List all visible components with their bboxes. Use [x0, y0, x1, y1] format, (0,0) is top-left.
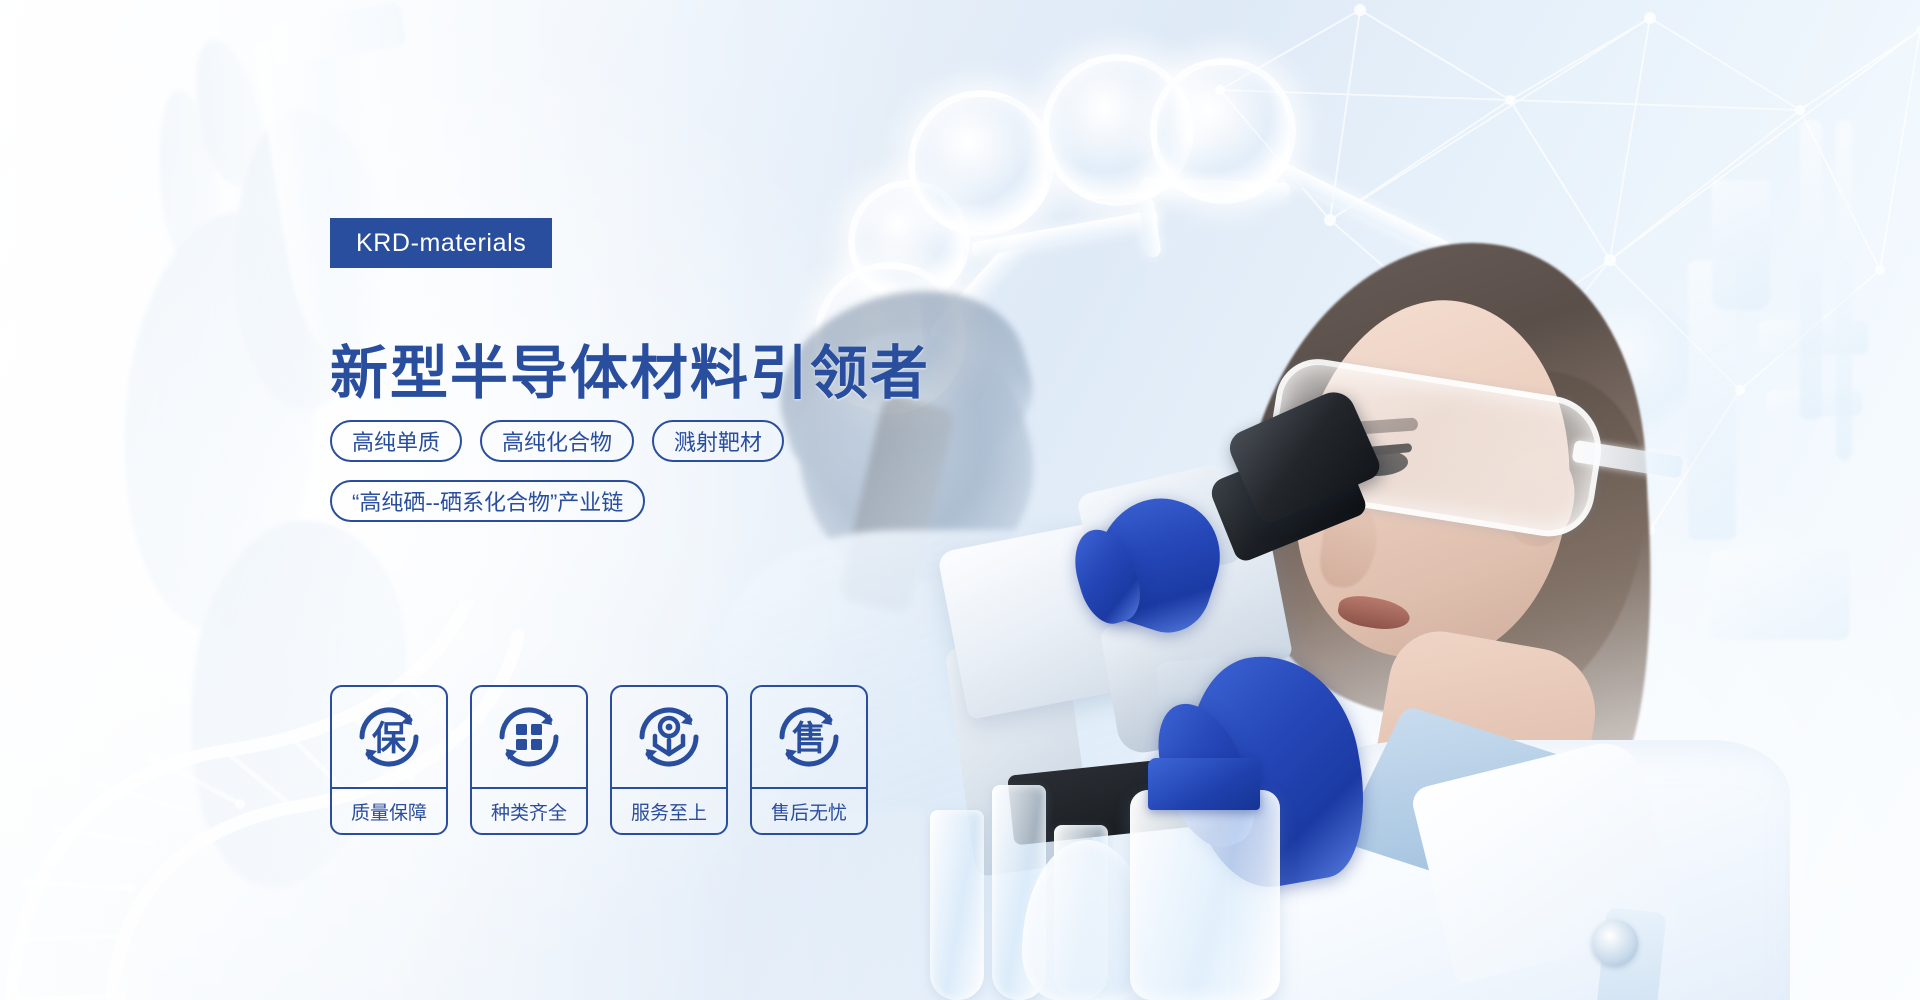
feature-card-service-first[interactable]: 服务至上 — [610, 685, 728, 835]
tag-pill-selenium-industry-chain[interactable]: “高纯硒--硒系化合物”产业链 — [330, 480, 645, 522]
tag-pill-high-purity-compound[interactable]: 高纯化合物 — [480, 420, 634, 462]
feature-label: 服务至上 — [612, 789, 726, 833]
network-mesh-icon — [1180, 0, 1920, 590]
tag-row-1: 高纯单质 高纯化合物 溅射靶材 — [330, 420, 784, 462]
feature-card-quality-guarantee[interactable]: 保 质量保障 — [330, 685, 448, 835]
service-first-hands-icon — [612, 687, 726, 789]
svg-text:售: 售 — [792, 719, 826, 759]
banner-content: KRD-materials 新型半导体材料引领者 高纯单质 高纯化合物 溅射靶材… — [330, 0, 1090, 1000]
brand-badge: KRD-materials — [330, 218, 552, 268]
tag-pill-high-purity-element[interactable]: 高纯单质 — [330, 420, 462, 462]
full-category-grid-icon — [472, 687, 586, 789]
female-scientist-icon — [1130, 120, 1750, 1000]
reagent-bottle-icon — [1130, 790, 1280, 1000]
hero-banner: KRD-materials 新型半导体材料引领者 高纯单质 高纯化合物 溅射靶材… — [0, 0, 1920, 1000]
page-title: 新型半导体材料引领者 — [330, 326, 930, 410]
feature-label: 质量保障 — [332, 789, 446, 833]
feature-label: 售后无忧 — [752, 789, 866, 833]
svg-text:保: 保 — [372, 719, 407, 759]
reagent-bottle-cap-icon — [1148, 758, 1260, 810]
feature-card-after-sales[interactable]: 售 售后无忧 — [750, 685, 868, 835]
quality-guarantee-icon: 保 — [332, 687, 446, 789]
feature-label: 种类齐全 — [472, 789, 586, 833]
after-sales-icon: 售 — [752, 687, 866, 789]
feature-card-full-category[interactable]: 种类齐全 — [470, 685, 588, 835]
tag-pill-sputtering-target[interactable]: 溅射靶材 — [652, 420, 784, 462]
feature-card-list: 保 质量保障 — [330, 685, 868, 835]
lab-equipment-right-icon — [1560, 120, 1920, 820]
safety-goggles-icon — [1261, 353, 1609, 543]
tag-row-2: “高纯硒--硒系化合物”产业链 — [330, 480, 645, 522]
